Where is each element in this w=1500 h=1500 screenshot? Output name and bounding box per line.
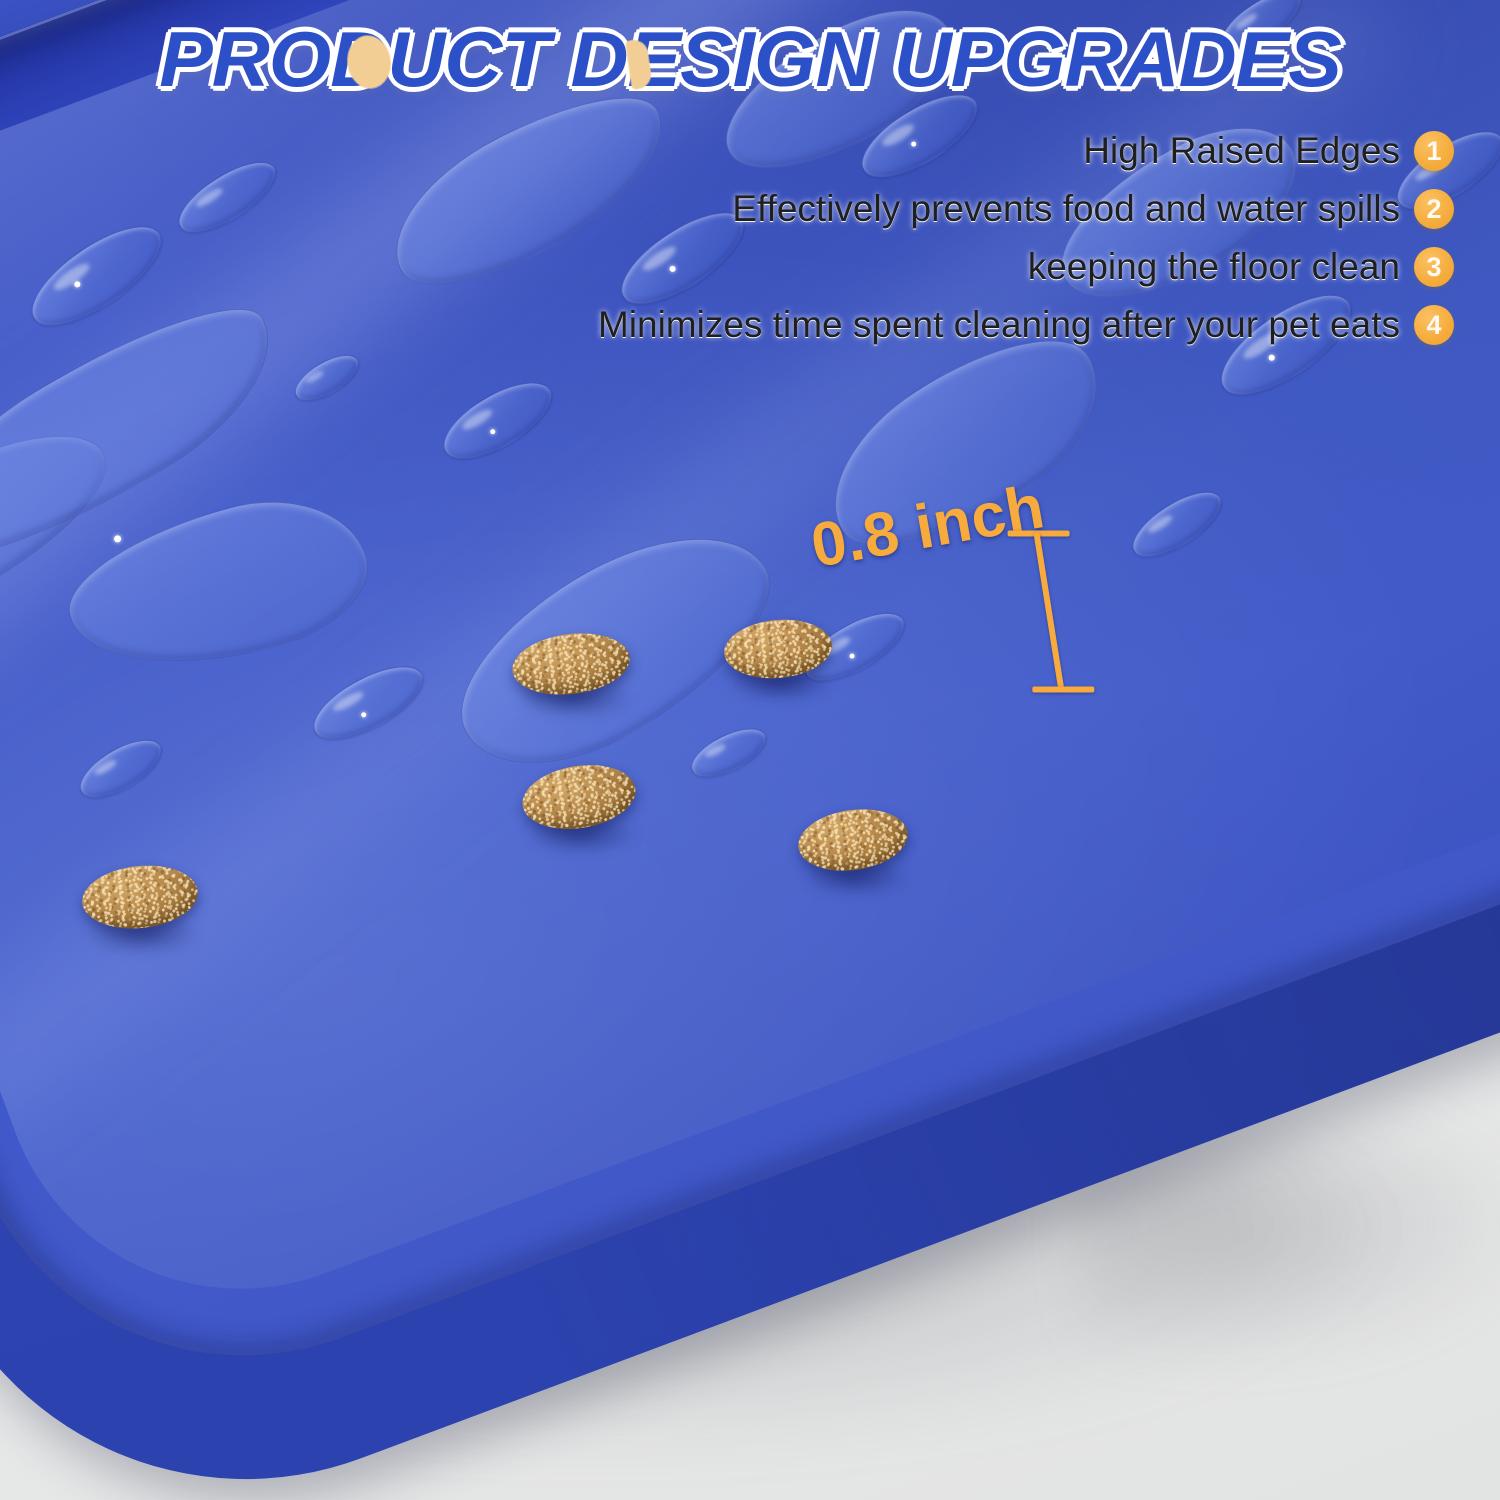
- product-marketing-image: 0.8 inch PRODUCT DESIGN UPGRADES High Ra…: [0, 0, 1500, 1500]
- dimension-cap-bottom: [1032, 687, 1094, 693]
- bullet-number-badge: 2: [1414, 189, 1454, 229]
- list-item: keeping the floor clean 3: [554, 240, 1454, 294]
- list-item: High Raised Edges 1: [554, 124, 1454, 178]
- bullet-number-badge: 3: [1414, 247, 1454, 287]
- bullet-label: High Raised Edges: [1083, 130, 1400, 172]
- list-item: Minimizes time spent cleaning after your…: [554, 298, 1454, 352]
- bullet-label: Minimizes time spent cleaning after your…: [598, 304, 1400, 346]
- bullet-label: keeping the floor clean: [1028, 246, 1400, 288]
- feature-bullet-list: High Raised Edges 1 Effectively prevents…: [554, 124, 1454, 356]
- bullet-number-badge: 1: [1414, 131, 1454, 171]
- page-title: PRODUCT DESIGN UPGRADES: [0, 14, 1500, 105]
- list-item: Effectively prevents food and water spil…: [554, 182, 1454, 236]
- bullet-number-badge: 4: [1414, 305, 1454, 345]
- bullet-label: Effectively prevents food and water spil…: [732, 188, 1400, 230]
